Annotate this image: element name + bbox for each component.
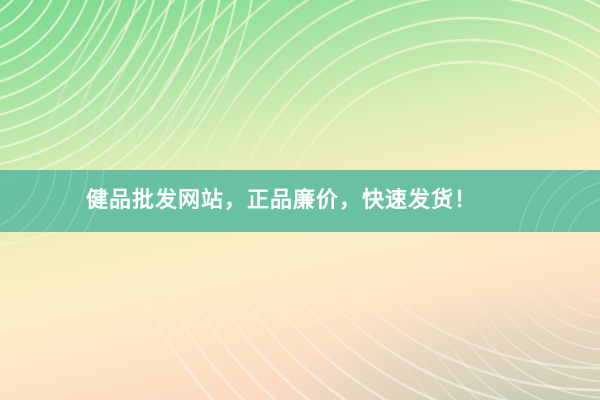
headline-band: 健品批发网站，正品廉价，快速发货！ bbox=[0, 170, 600, 232]
promo-banner: 健品批发网站，正品廉价，快速发货！ bbox=[0, 0, 600, 400]
headline-text: 健品批发网站，正品廉价，快速发货！ bbox=[86, 190, 477, 212]
